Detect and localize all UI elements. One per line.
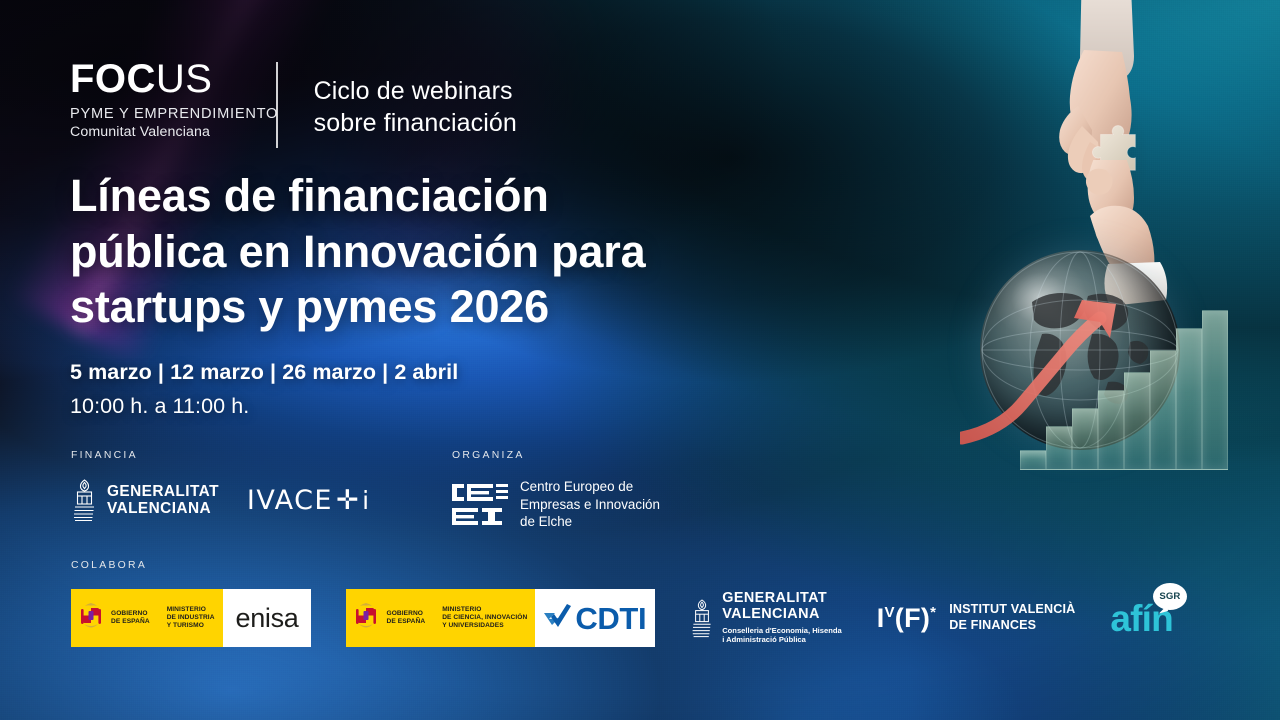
ivf-mark-star: * bbox=[930, 604, 936, 621]
generalitat-valenciana-text: GENERALITAT VALENCIANA bbox=[107, 483, 219, 518]
ceei-mark-icon bbox=[452, 482, 508, 528]
ivf-mark-f: F bbox=[904, 603, 921, 633]
ivf-logo: IV(F)* INSTITUT VALENCIÀ DE FINANCES bbox=[877, 602, 1076, 633]
generalitat-line-2: VALENCIANA bbox=[107, 500, 219, 517]
gobierno-line-2: DE ESPAÑA bbox=[386, 618, 425, 626]
colabora-section: COLABORA bbox=[71, 560, 1173, 647]
ministerio-ciencia-text: MINISTERIO DE CIENCIA, INNOVACIÓN Y UNIV… bbox=[442, 606, 527, 631]
page-title-line-1: Líneas de financiación bbox=[70, 168, 770, 224]
generalitat-valenciana-logo: GENERALITAT VALENCIANA bbox=[71, 478, 219, 522]
page-title-line-2: pública en Innovación para bbox=[70, 224, 770, 280]
webinar-series-label: Ciclo de webinars sobre financiación bbox=[314, 60, 517, 140]
ivf-name-line-1: INSTITUT VALENCIÀ bbox=[949, 602, 1075, 618]
ivf-mark: IV(F)* bbox=[877, 605, 936, 632]
content-layer: FOCUS PYME Y EMPRENDIMIENTO Comunitat Va… bbox=[0, 0, 1280, 720]
ivf-mark-v: V bbox=[885, 604, 895, 621]
event-times: 10:00 h. a 11:00 h. bbox=[70, 394, 249, 419]
ivace-plus-icon: ✛ bbox=[336, 485, 360, 516]
ceei-name-line-2: Empresas e Innovación bbox=[520, 496, 660, 514]
page-title: Líneas de financiación pública en Innova… bbox=[70, 168, 770, 335]
cdti-wordmark-panel: CDTI bbox=[535, 589, 655, 647]
ivf-mark-i: I bbox=[877, 603, 885, 633]
cdti-wordmark: CDTI bbox=[575, 603, 646, 634]
focus-wordmark-light: US bbox=[156, 57, 213, 101]
ministerio-line-1: MINISTERIO bbox=[167, 606, 215, 614]
ivf-mark-paren-close: ) bbox=[921, 603, 930, 633]
focus-wordmark-bold: FOC bbox=[70, 57, 156, 101]
sgr-badge-label: SGR bbox=[1159, 591, 1180, 602]
ceei-name: Centro Europeo de Empresas e Innovación … bbox=[520, 478, 660, 531]
ivf-name-line-2: DE FINANCES bbox=[949, 618, 1075, 634]
generalitat-conselleria-logo: GENERALITAT VALENCIANA Conselleria d'Eco… bbox=[690, 591, 842, 645]
ministerio-line-3: Y UNIVERSIDADES bbox=[442, 622, 527, 630]
cdti-logo: GOBIERNO DE ESPAÑA MINISTERIO DE CIENCIA… bbox=[346, 589, 655, 647]
spain-coat-of-arms-icon bbox=[354, 602, 378, 634]
organiza-section: ORGANIZA bbox=[452, 450, 660, 531]
webinar-series-line-1: Ciclo de webinars bbox=[314, 76, 517, 108]
ministerio-line-3: Y TURISMO bbox=[167, 622, 215, 630]
generalitat-line-1: GENERALITAT bbox=[107, 483, 219, 500]
brand-header: FOCUS PYME Y EMPRENDIMIENTO Comunitat Va… bbox=[70, 60, 517, 148]
webinar-series-line-2: sobre financiación bbox=[314, 108, 517, 140]
promo-banner: FOCUS PYME Y EMPRENDIMIENTO Comunitat Va… bbox=[0, 0, 1280, 720]
focus-wordmark: FOCUS bbox=[70, 60, 262, 98]
conselleria-line-2: i Administració Pública bbox=[722, 635, 842, 645]
gobierno-espana-cdti-panel: GOBIERNO DE ESPAÑA MINISTERIO DE CIENCIA… bbox=[346, 589, 535, 647]
enisa-wordmark-panel: enisa bbox=[223, 589, 312, 647]
afin-sgr-logo: afín SGR bbox=[1110, 600, 1173, 637]
enisa-wordmark: enisa bbox=[236, 603, 299, 634]
focus-tagline-2: Comunitat Valenciana bbox=[70, 124, 262, 140]
event-dates: 5 marzo | 12 marzo | 26 marzo | 2 abril bbox=[70, 360, 458, 385]
organiza-logos: Centro Europeo de Empresas e Innovación … bbox=[452, 478, 660, 531]
generalitat-line-2: VALENCIANA bbox=[722, 607, 842, 623]
colabora-label: COLABORA bbox=[71, 560, 1173, 571]
gobierno-espana-enisa-panel: GOBIERNO DE ESPAÑA MINISTERIO DE INDUSTR… bbox=[71, 589, 223, 647]
financia-logos: GENERALITAT VALENCIANA IVACE ✛ i bbox=[71, 478, 371, 522]
gobierno-line-1: GOBIERNO bbox=[386, 610, 425, 618]
organiza-label: ORGANIZA bbox=[452, 450, 660, 461]
generalitat-crest-icon bbox=[71, 478, 98, 522]
enisa-logo: GOBIERNO DE ESPAÑA MINISTERIO DE INDUSTR… bbox=[71, 589, 311, 647]
page-title-line-3: startups y pymes 2026 bbox=[70, 279, 770, 335]
colabora-logos: GOBIERNO DE ESPAÑA MINISTERIO DE INDUSTR… bbox=[71, 589, 1173, 647]
generalitat-line-1: GENERALITAT bbox=[722, 591, 842, 607]
focus-tagline-1: PYME Y EMPRENDIMIENTO bbox=[70, 106, 262, 122]
ivace-wordmark: IVACE bbox=[247, 485, 333, 516]
gobierno-espana-text: GOBIERNO DE ESPAÑA bbox=[111, 610, 150, 627]
gobierno-espana-text: GOBIERNO DE ESPAÑA bbox=[386, 610, 425, 627]
spain-coat-of-arms-icon bbox=[79, 602, 103, 634]
ivf-name: INSTITUT VALENCIÀ DE FINANCES bbox=[949, 602, 1075, 633]
ministerio-industria-text: MINISTERIO DE INDUSTRIA Y TURISMO bbox=[167, 606, 215, 631]
ceei-name-line-3: de Elche bbox=[520, 513, 660, 531]
ceei-logo: Centro Europeo de Empresas e Innovación … bbox=[452, 478, 660, 531]
generalitat-conselleria-text: GENERALITAT VALENCIANA Conselleria d'Eco… bbox=[722, 591, 842, 645]
ivace-logo: IVACE ✛ i bbox=[247, 485, 371, 516]
gobierno-line-2: DE ESPAÑA bbox=[111, 618, 150, 626]
ivace-i-mark: i bbox=[362, 486, 370, 515]
financia-section: FINANCIA bbox=[71, 450, 371, 522]
gobierno-line-1: GOBIERNO bbox=[111, 610, 150, 618]
generalitat-crest-icon bbox=[690, 598, 714, 638]
focus-logo: FOCUS PYME Y EMPRENDIMIENTO Comunitat Va… bbox=[70, 60, 262, 140]
conselleria-line-1: Conselleria d'Economia, Hisenda bbox=[722, 626, 842, 636]
sgr-badge: SGR bbox=[1153, 583, 1187, 610]
financia-label: FINANCIA bbox=[71, 450, 371, 461]
ivf-mark-paren-open: ( bbox=[895, 603, 904, 633]
ministerio-line-1: MINISTERIO bbox=[442, 606, 527, 614]
ministerio-line-2: DE CIENCIA, INNOVACIÓN bbox=[442, 614, 527, 622]
ministerio-line-2: DE INDUSTRIA bbox=[167, 614, 215, 622]
header-divider bbox=[276, 62, 278, 148]
cdti-checkmark-icon bbox=[542, 603, 572, 633]
ceei-name-line-1: Centro Europeo de bbox=[520, 478, 660, 496]
